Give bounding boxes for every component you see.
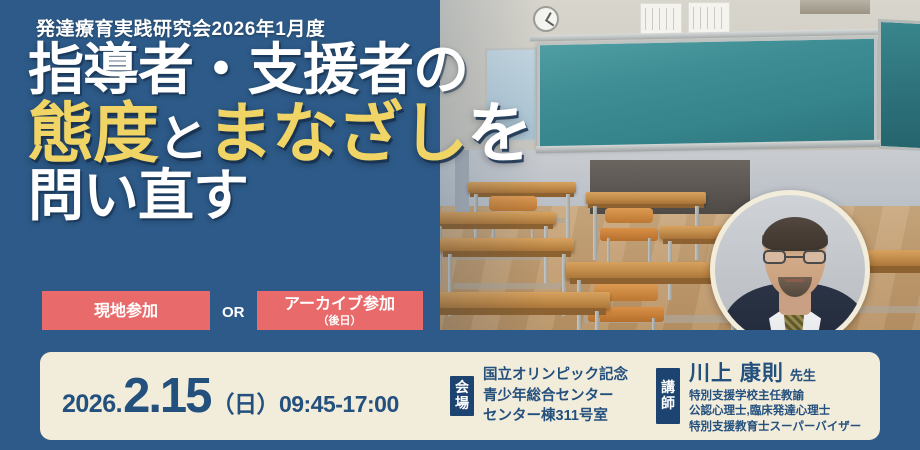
onsite-participation-button[interactable]: 現地参加 [42,291,210,333]
or-separator-label: OR [222,304,245,321]
speaker-details: 川上 康則 先生 特別支援学校主任教諭 公認心理士,臨床発達心理士 特別支援教育… [689,357,861,436]
speaker-honorific: 先生 [790,365,816,384]
speaker-badge-char-2: 師 [661,396,675,412]
venue-badge: 会 場 [450,376,474,416]
onsite-participation-label: 現地参加 [94,303,158,321]
headline-line-3: 問い直す [28,168,708,224]
headline-stack: 指導者・支援者の 態度とまなざしを 問い直す [28,42,708,224]
speaker-name-row: 川上 康則 先生 [689,357,861,387]
event-year: 2026. [62,390,122,419]
venue-line-2: 青少年総合センター [483,386,628,407]
speaker-credential-1: 特別支援学校主任教諭 [689,389,861,405]
headline-particle-to: と [158,111,207,167]
venue-line-3: センター棟311号室 [483,406,628,427]
archive-participation-label: アーカイブ参加 [284,296,395,314]
speaker-credentials: 特別支援学校主任教諭 公認心理士,臨床発達心理士 特別支援教育士スーパーバイザー [689,389,861,436]
speaker-name: 川上 康則 [689,357,784,387]
eyebrow-text: 発達療育実践研究会2026年1月度 [36,14,325,41]
speaker-badge: 講 師 [656,368,680,425]
speaker-badge-char-1: 講 [661,380,675,396]
seminar-banner: 発達療育実践研究会2026年1月度 指導者・支援者の 態度とまなざしを 問い直す… [0,0,920,450]
eyeglasses-icon [763,250,786,264]
venue-badge-char-1: 会 [455,380,469,396]
headline-emphasis-taido: 態度 [28,96,158,170]
event-info-bar: 2026.2.15（日）09:45-17:00 会 場 国立オリンピック記念 青… [40,352,880,440]
speaker-credential-3: 特別支援教育士スーパーバイザー [689,420,861,436]
event-day-and-time: （日）09:45-17:00 [211,385,398,419]
headline-particle-wo: を [467,96,532,170]
venue-badge-char-2: 場 [455,396,469,412]
eyeglasses-icon [803,250,826,264]
venue-line-1: 国立オリンピック記念 [483,365,628,386]
archive-participation-sublabel: （後日） [318,315,362,328]
speaker-credential-2: 公認心理士,臨床発達心理士 [689,404,861,420]
venue-address: 国立オリンピック記念 青少年総合センター センター棟311号室 [483,365,628,427]
event-date-block: 2026.2.15（日）09:45-17:00 [40,368,450,424]
headline-emphasis-manazashi: まなざし [207,96,467,170]
speaker-block: 講 師 川上 康則 先生 特別支援学校主任教諭 公認心理士,臨床発達心理士 特別… [656,357,861,436]
participation-options: 現地参加 OR アーカイブ参加 （後日） [42,291,423,333]
archive-participation-button[interactable]: アーカイブ参加 （後日） [257,291,423,333]
event-month-day: 2.15 [123,368,210,424]
speaker-portrait-avatar [710,190,870,350]
venue-block: 会 場 国立オリンピック記念 青少年総合センター センター棟311号室 [450,365,628,427]
headline-line-2: 態度とまなざしを [28,100,708,166]
headline-line-1: 指導者・支援者の [28,42,708,98]
